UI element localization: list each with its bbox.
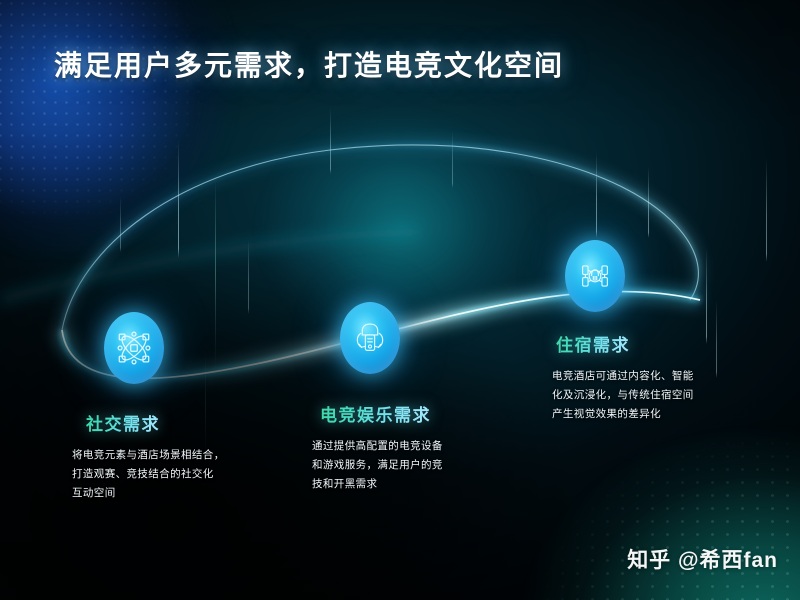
node-esports-heading: 电竞娱乐需求 bbox=[320, 401, 431, 426]
node-accommodation-heading: 住宿需求 bbox=[556, 331, 630, 356]
social-network-icon bbox=[116, 330, 152, 366]
node-accommodation-body-line: 电竞酒店可通过内容化、智能 bbox=[552, 367, 764, 386]
node-social-body-line: 打造观赛、竞技结合的社交化 bbox=[72, 465, 287, 484]
page-title: 满足用户多元需求，打造电竞文化空间 bbox=[54, 44, 564, 84]
node-social-heading: 社交需求 bbox=[86, 410, 160, 435]
node-esports-body-line: 技和开黑需求 bbox=[312, 475, 512, 494]
node-social-body: 将电竞元素与酒店场景相结合， 打造观赛、竞技结合的社交化 互动空间 bbox=[72, 446, 287, 503]
node-social-badge[interactable] bbox=[104, 312, 164, 384]
node-esports-body-line: 通过提供高配置的电竞设备 bbox=[312, 437, 512, 456]
node-esports-body: 通过提供高配置的电竞设备 和游戏服务，满足用户的竞 技和开黑需求 bbox=[312, 437, 512, 494]
watermark: 知乎 @希西fan bbox=[627, 544, 778, 574]
smart-chip-icon bbox=[578, 259, 612, 293]
node-esports-body-line: 和游戏服务，满足用户的竞 bbox=[312, 456, 512, 475]
game-controller-refresh-icon bbox=[353, 321, 387, 355]
node-accommodation-body: 电竞酒店可通过内容化、智能 化及沉浸化，与传统住宿空间 产生视觉效果的差异化 bbox=[552, 367, 764, 424]
background-gradient-overlay bbox=[0, 0, 800, 600]
node-accommodation-body-line: 化及沉浸化，与传统住宿空间 bbox=[552, 386, 764, 405]
node-esports-badge[interactable] bbox=[340, 302, 400, 374]
node-social-body-line: 将电竞元素与酒店场景相结合， bbox=[72, 446, 287, 465]
node-social-body-line: 互动空间 bbox=[72, 484, 287, 503]
node-accommodation-body-line: 产生视觉效果的差异化 bbox=[552, 405, 764, 424]
slide-canvas: 满足用户多元需求，打造电竞文化空间 社交需求 bbox=[0, 0, 800, 600]
node-accommodation-badge[interactable] bbox=[565, 240, 625, 312]
